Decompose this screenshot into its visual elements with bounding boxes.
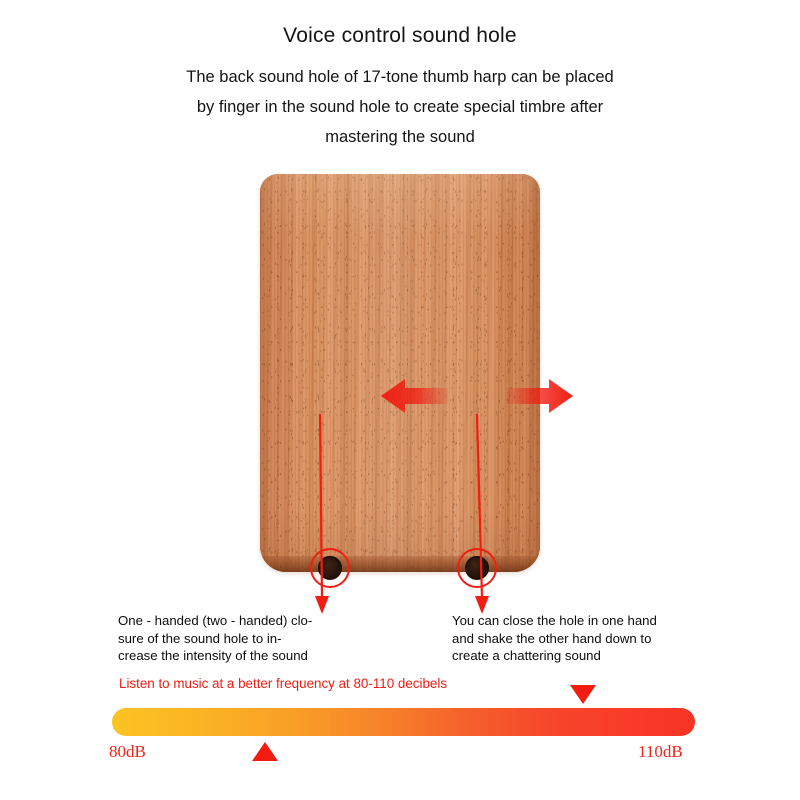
decibel-min-label: 80dB <box>109 742 146 762</box>
decibel-marker-high-icon <box>570 685 596 704</box>
left-caption-line-1: One - handed (two - handed) clo- <box>118 612 358 630</box>
page-title: Voice control sound hole <box>0 22 800 50</box>
left-sound-hole-highlight-ring <box>310 548 350 588</box>
subtitle-line-2: by finger in the sound hole to create sp… <box>110 92 690 122</box>
right-caption: You can close the hole in one hand and s… <box>452 612 708 665</box>
header: Voice control sound hole The back sound … <box>0 22 800 152</box>
right-sound-hole-highlight-ring <box>457 548 497 588</box>
subtitle-line-1: The back sound hole of 17-tone thumb har… <box>110 62 690 92</box>
decibel-gradient-bar <box>112 708 695 736</box>
left-caption: One - handed (two - handed) clo- sure of… <box>118 612 358 665</box>
left-caption-line-2: sure of the sound hole to in- <box>118 630 358 648</box>
right-caption-line-2: and shake the other hand down to <box>452 630 708 648</box>
wood-block <box>260 174 540 572</box>
decibel-marker-low-icon <box>252 742 278 761</box>
left-caption-line-3: crease the intensity of the sound <box>118 647 358 665</box>
subtitle-line-3: mastering the sound <box>110 122 690 152</box>
page-subtitle: The back sound hole of 17-tone thumb har… <box>110 62 690 152</box>
decibel-max-label: 110dB <box>638 742 683 762</box>
right-caption-line-3: create a chattering sound <box>452 647 708 665</box>
wood-bottom-edge <box>260 556 540 572</box>
wood-lighting-layer <box>260 174 540 572</box>
thumb-harp-body-photo <box>260 174 540 572</box>
right-caption-line-1: You can close the hole in one hand <box>452 612 708 630</box>
decibel-meter-note: Listen to music at a better frequency at… <box>119 676 447 691</box>
